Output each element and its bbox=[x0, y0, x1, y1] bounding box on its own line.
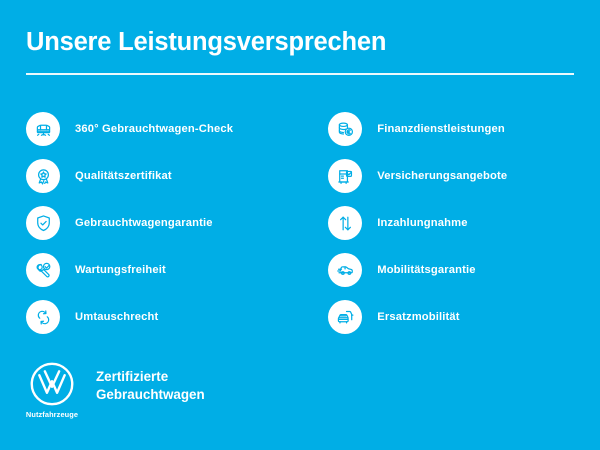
feature-column-right: Finanzdienstleistungen Versicherungsange… bbox=[328, 112, 582, 334]
logo-subtitle: Nutzfahrzeuge bbox=[26, 410, 78, 419]
page-title: Unsere Leistungsversprechen bbox=[26, 28, 574, 56]
van-check-icon bbox=[26, 112, 60, 146]
feature-item: Gebrauchtwagengarantie bbox=[26, 206, 328, 240]
feature-item: Inzahlungnahme bbox=[328, 206, 582, 240]
feature-label: Gebrauchtwagengarantie bbox=[75, 217, 213, 229]
feature-item: Qualitätszertifikat bbox=[26, 159, 328, 193]
shield-check-icon bbox=[26, 206, 60, 240]
promo-poster: Unsere Leistungsversprechen bbox=[0, 0, 600, 450]
feature-item: Wartungsfreiheit bbox=[26, 253, 328, 287]
exchange-arrows-icon bbox=[26, 300, 60, 334]
volkswagen-logo: Nutzfahrzeuge bbox=[26, 361, 78, 419]
feature-label: Finanzdienstleistungen bbox=[377, 123, 505, 135]
feature-item: Versicherungsangebote bbox=[328, 159, 582, 193]
feature-label: Wartungsfreiheit bbox=[75, 264, 166, 276]
up-down-arrows-icon bbox=[328, 206, 362, 240]
header-divider bbox=[26, 73, 574, 75]
brand-tagline: Zertifizierte Gebrauchtwagen bbox=[96, 368, 205, 403]
wrench-check-icon bbox=[26, 253, 60, 287]
feature-label: Inzahlungnahme bbox=[377, 217, 467, 229]
feature-label: Ersatzmobilität bbox=[377, 311, 459, 323]
feature-item: Mobilitätsgarantie bbox=[328, 253, 582, 287]
coins-euro-icon bbox=[328, 112, 362, 146]
vw-roundel-icon bbox=[29, 361, 75, 407]
brand-tagline-line1: Zertifizierte bbox=[96, 368, 205, 386]
header: Unsere Leistungsversprechen bbox=[26, 28, 574, 75]
feature-item: Umtauschrecht bbox=[26, 300, 328, 334]
award-rosette-icon bbox=[26, 159, 60, 193]
feature-label: 360° Gebrauchtwagen-Check bbox=[75, 123, 233, 135]
feature-item: Finanzdienstleistungen bbox=[328, 112, 582, 146]
car-motion-icon bbox=[328, 253, 362, 287]
feature-column-left: 360° Gebrauchtwagen-Check Qualitätszerti… bbox=[26, 112, 328, 334]
brand-lockup: Nutzfahrzeuge Zertifizierte Gebrauchtwag… bbox=[26, 361, 205, 419]
two-cars-icon bbox=[328, 300, 362, 334]
brand-tagline-line2: Gebrauchtwagen bbox=[96, 386, 205, 404]
feature-label: Qualitätszertifikat bbox=[75, 170, 172, 182]
document-check-icon bbox=[328, 159, 362, 193]
feature-label: Umtauschrecht bbox=[75, 311, 158, 323]
feature-item: Ersatzmobilität bbox=[328, 300, 582, 334]
feature-label: Versicherungsangebote bbox=[377, 170, 507, 182]
feature-item: 360° Gebrauchtwagen-Check bbox=[26, 112, 328, 146]
feature-grid: 360° Gebrauchtwagen-Check Qualitätszerti… bbox=[26, 112, 582, 334]
feature-label: Mobilitätsgarantie bbox=[377, 264, 475, 276]
